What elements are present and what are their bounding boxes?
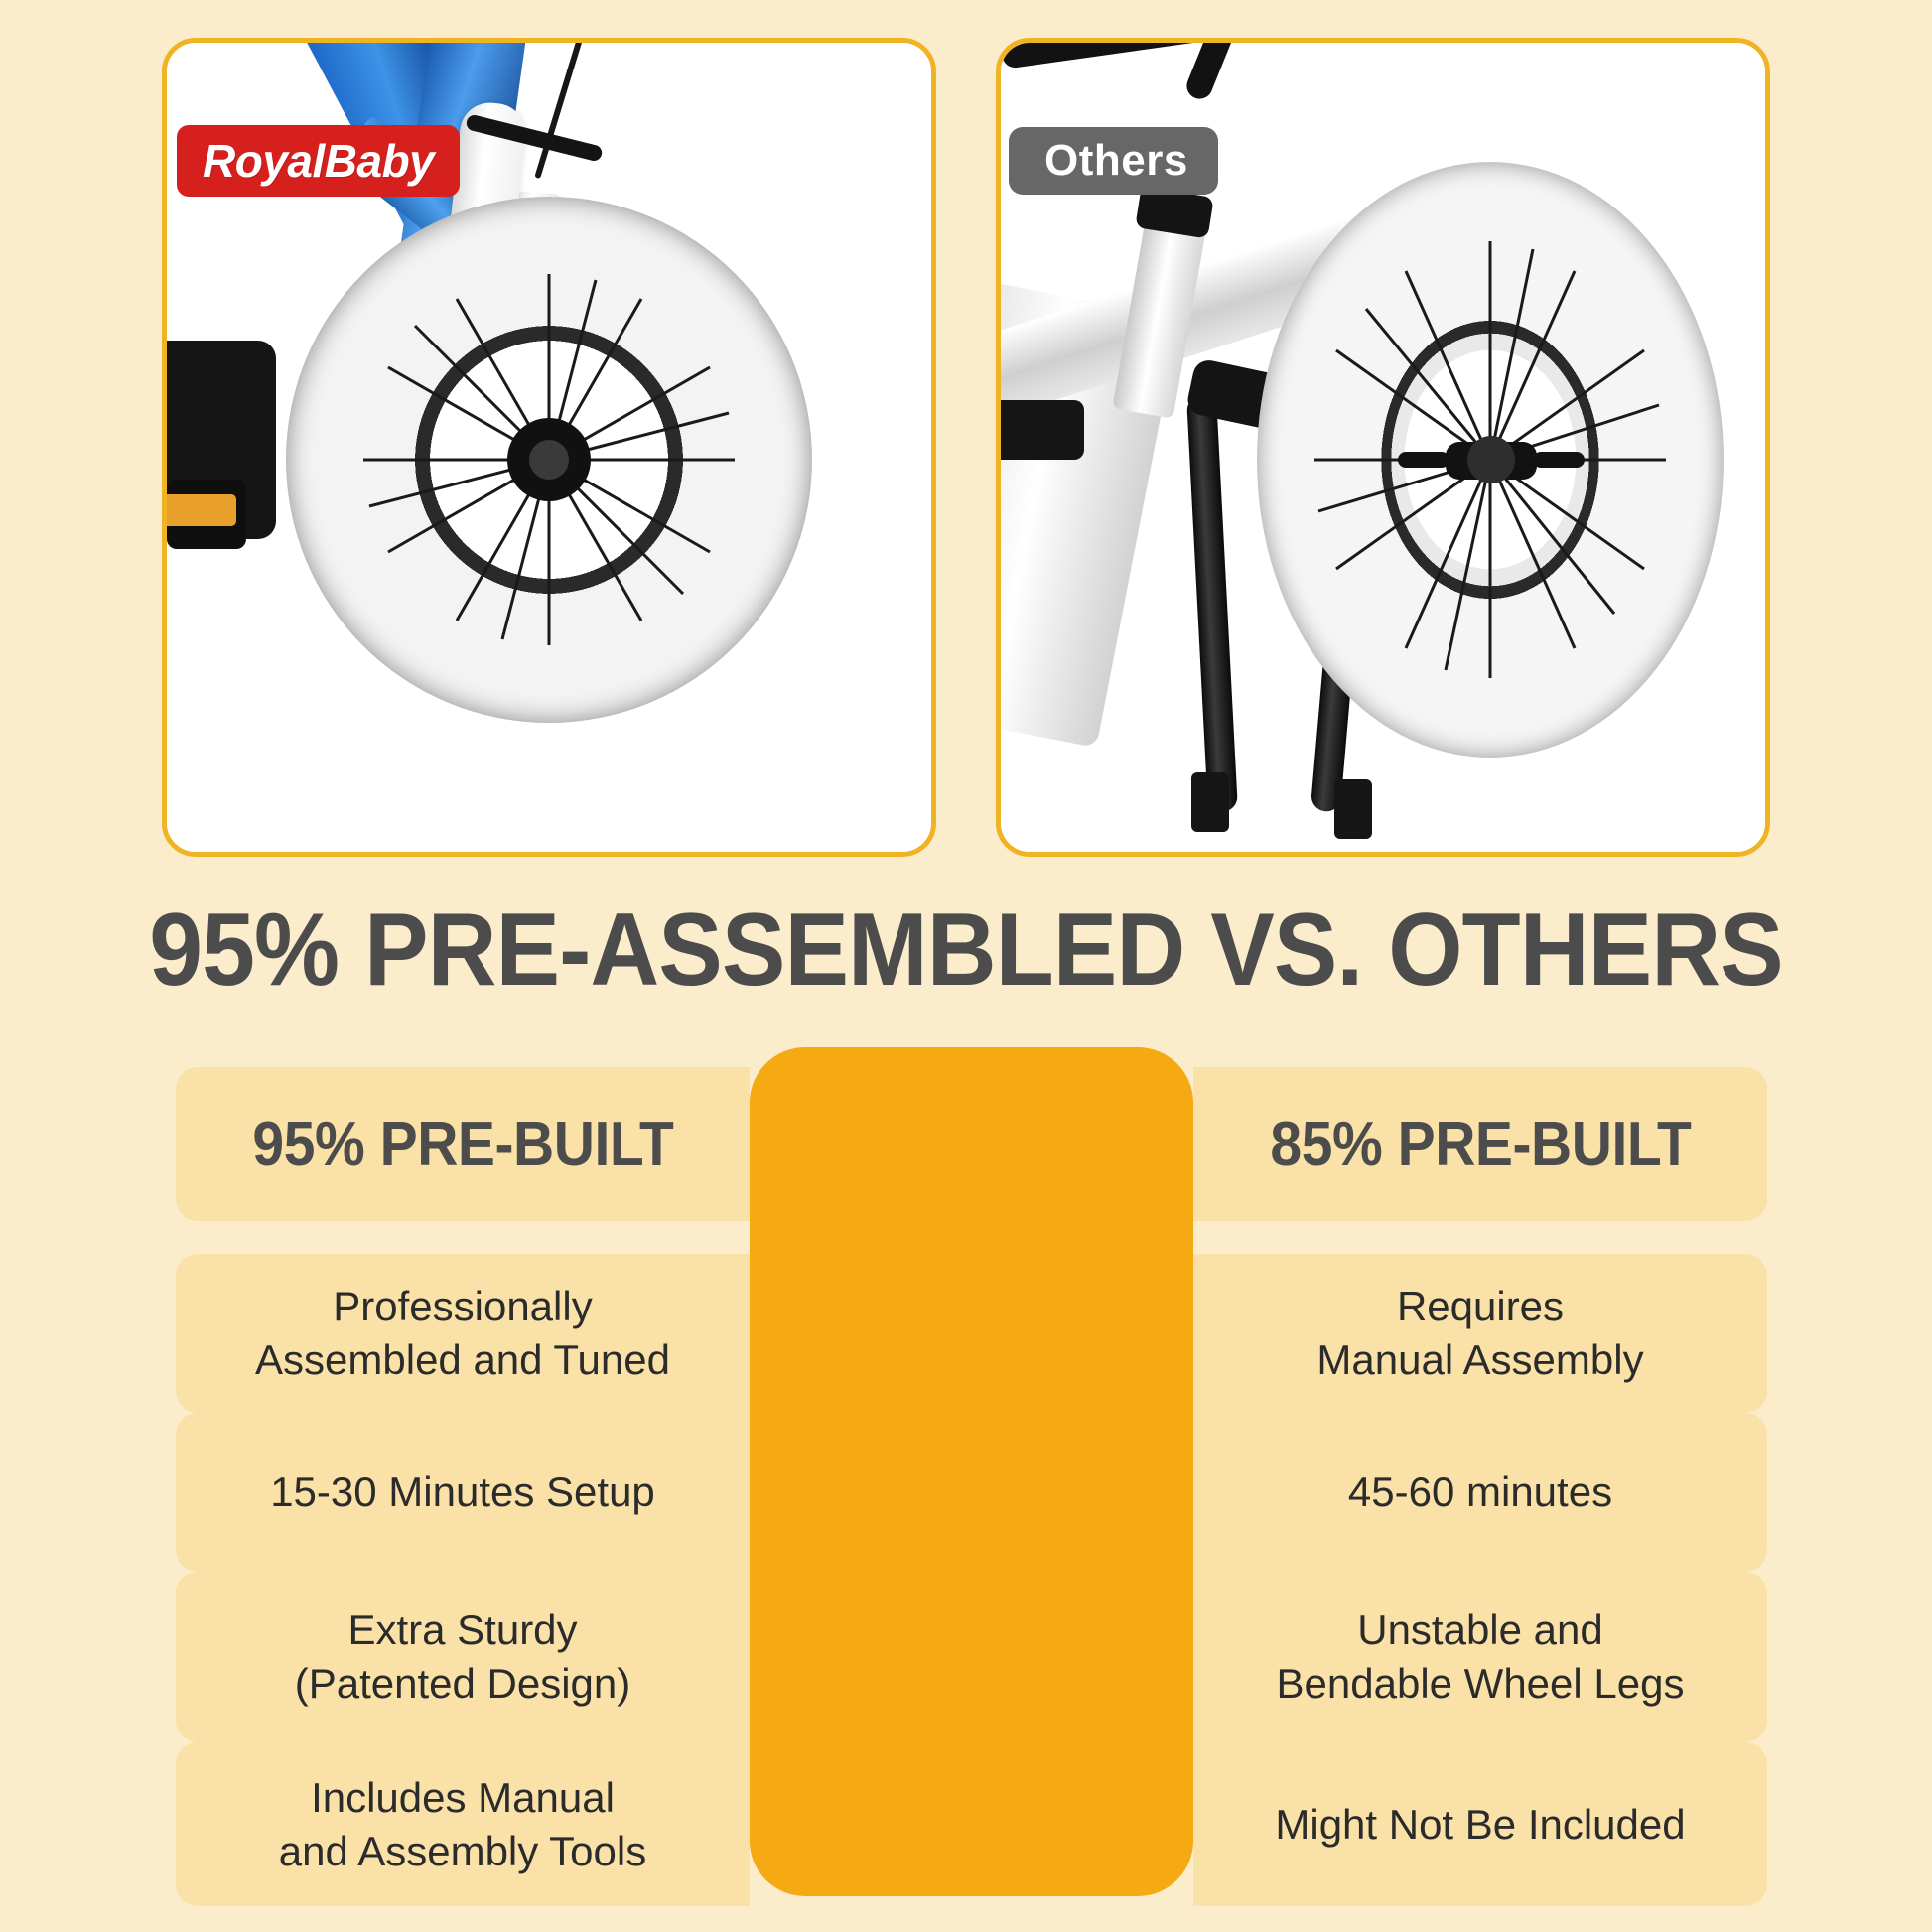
photo-card-royalbaby: RoyalBaby [162, 38, 936, 857]
row-cell-left: Extra Sturdy (Patented Design) [176, 1572, 750, 1742]
comparison-table: 95% PRE-BUILT VS 85% PRE-BUILT Professio… [176, 1067, 1767, 1906]
handlebar-grip [1182, 38, 1251, 103]
row-right-text: Unstable and Bendable Wheel Legs [1253, 1603, 1709, 1711]
page-title: 95% PRE-ASSEMBLED VS. OTHERS [68, 894, 1864, 1007]
other-fork-leg-left [1186, 395, 1238, 813]
bike-reflector [162, 494, 236, 526]
header-right-label: 85% PRE-BUILT [1270, 1109, 1691, 1179]
wheel-spokes [286, 197, 812, 723]
header-left-label: 95% PRE-BUILT [252, 1109, 673, 1179]
row-left-text: Includes Manual and Assembly Tools [255, 1771, 670, 1878]
row-cell-left: Includes Manual and Assembly Tools [176, 1742, 750, 1906]
row-cell-left: Professionally Assembled and Tuned [176, 1254, 750, 1413]
row-right-text: Requires Manual Assembly [1293, 1280, 1667, 1387]
row-cell-right: Requires Manual Assembly [1193, 1254, 1767, 1413]
row-cell-left: 15-30 Minutes Setup [176, 1413, 750, 1572]
row-cell-right: 45-60 minutes [1193, 1413, 1767, 1572]
row-right-text: 45-60 minutes [1324, 1465, 1636, 1519]
row-cell-right: Might Not Be Included [1193, 1742, 1767, 1906]
header-cell-right: 85% PRE-BUILT [1193, 1067, 1767, 1221]
badge-royalbaby: RoyalBaby [177, 125, 460, 197]
other-fork-dropout-left [1191, 772, 1229, 832]
other-loose-wheel [1257, 162, 1724, 758]
product-photo-row: RoyalBaby [0, 0, 1932, 869]
row-left-text: Professionally Assembled and Tuned [231, 1280, 694, 1387]
row-left-text: 15-30 Minutes Setup [246, 1465, 679, 1519]
vs-center-column [750, 1047, 1193, 1896]
badge-others: Others [1009, 127, 1218, 195]
other-pedal [996, 400, 1084, 460]
row-cell-right: Unstable and Bendable Wheel Legs [1193, 1572, 1767, 1742]
photo-card-others: Others [996, 38, 1770, 857]
header-cell-left: 95% PRE-BUILT [176, 1067, 750, 1221]
row-left-text: Extra Sturdy (Patented Design) [271, 1603, 655, 1711]
other-fork-dropout-right [1334, 779, 1372, 839]
handlebar [1001, 38, 1300, 69]
row-right-text: Might Not Be Included [1251, 1798, 1709, 1852]
bike-front-wheel [286, 197, 812, 723]
wheel-spokes [1257, 162, 1724, 758]
